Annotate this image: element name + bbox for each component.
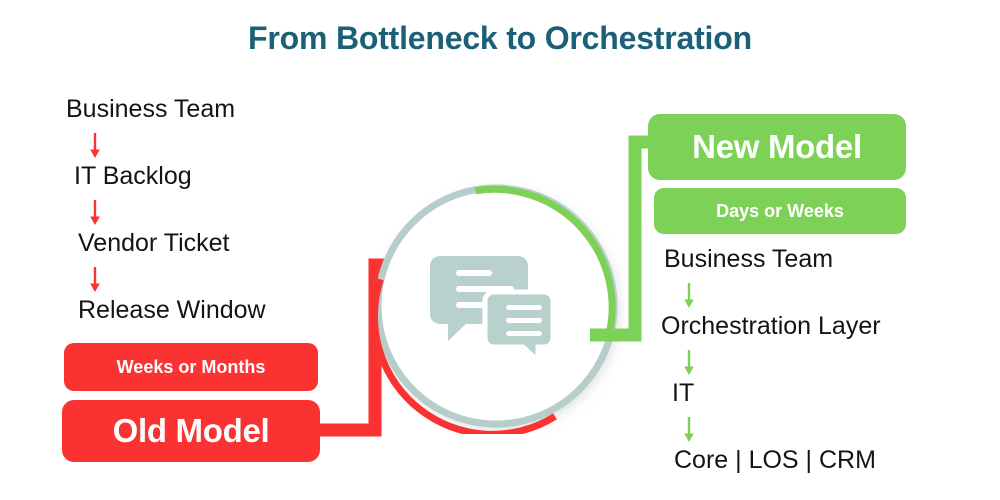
new-flow-step-1: Business Team [664,247,833,272]
new-model-badge[interactable]: New Model [648,114,906,180]
old-flow-step-2: IT Backlog [74,164,192,189]
new-model-duration-badge[interactable]: Days or Weeks [654,188,906,234]
infographic-canvas: From Bottleneck to Orchestration Busines… [0,0,1000,500]
old-flow-step-4: Release Window [78,298,266,323]
arrow-down-icon [679,417,699,443]
new-flow-step-3: IT [672,381,694,406]
old-model-duration-badge[interactable]: Weeks or Months [64,343,318,391]
new-flow-step-2: Orchestration Layer [661,314,881,339]
new-flow-step-4: Core | LOS | CRM [674,448,876,473]
old-flow-step-3: Vendor Ticket [78,231,229,256]
old-model-badge[interactable]: Old Model [62,400,320,462]
chat-bubbles-icon [430,248,562,358]
arrow-down-icon [85,133,105,159]
arrow-down-icon [679,350,699,376]
page-title: From Bottleneck to Orchestration [0,20,1000,57]
arrow-down-icon [679,283,699,309]
old-flow-step-1: Business Team [66,97,235,122]
arrow-down-icon [85,200,105,226]
arrow-down-icon [85,267,105,293]
